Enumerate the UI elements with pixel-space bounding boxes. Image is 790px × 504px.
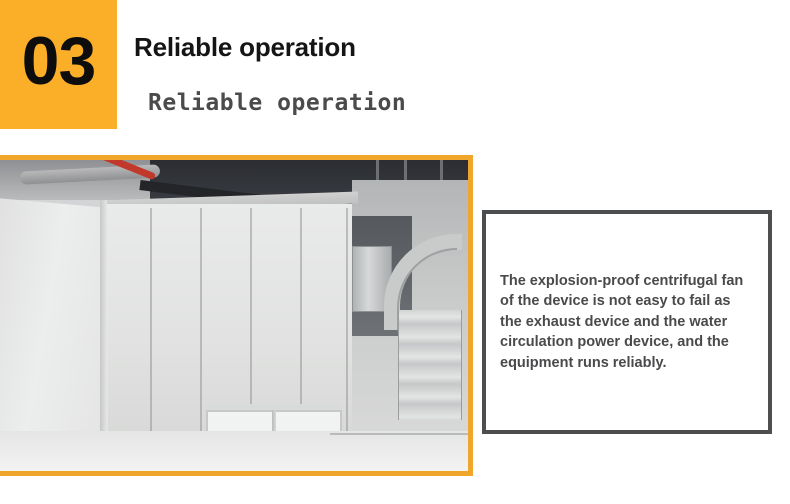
- exhaust-duct-downpipe: [398, 310, 462, 420]
- booth-photo: [0, 160, 468, 471]
- booth-panel-seam: [346, 208, 348, 451]
- section-number-badge: 03: [0, 0, 117, 129]
- section-number: 03: [22, 27, 96, 95]
- booth-panel-seam: [200, 208, 202, 451]
- slide-root: 03 Reliable operation Reliable operation: [0, 0, 790, 504]
- description-box: The explosion-proof centrifugal fan of t…: [482, 210, 772, 434]
- floor: [0, 431, 468, 471]
- photo-frame: [0, 155, 473, 476]
- page-subtitle: Reliable operation: [148, 90, 406, 116]
- booth-panel-seam: [150, 208, 152, 451]
- description-text: The explosion-proof centrifugal fan of t…: [486, 271, 768, 374]
- booth-corner: [100, 200, 107, 451]
- page-title: Reliable operation: [134, 33, 356, 63]
- booth-front-wall: [0, 198, 108, 459]
- floor-wall-join: [330, 433, 468, 435]
